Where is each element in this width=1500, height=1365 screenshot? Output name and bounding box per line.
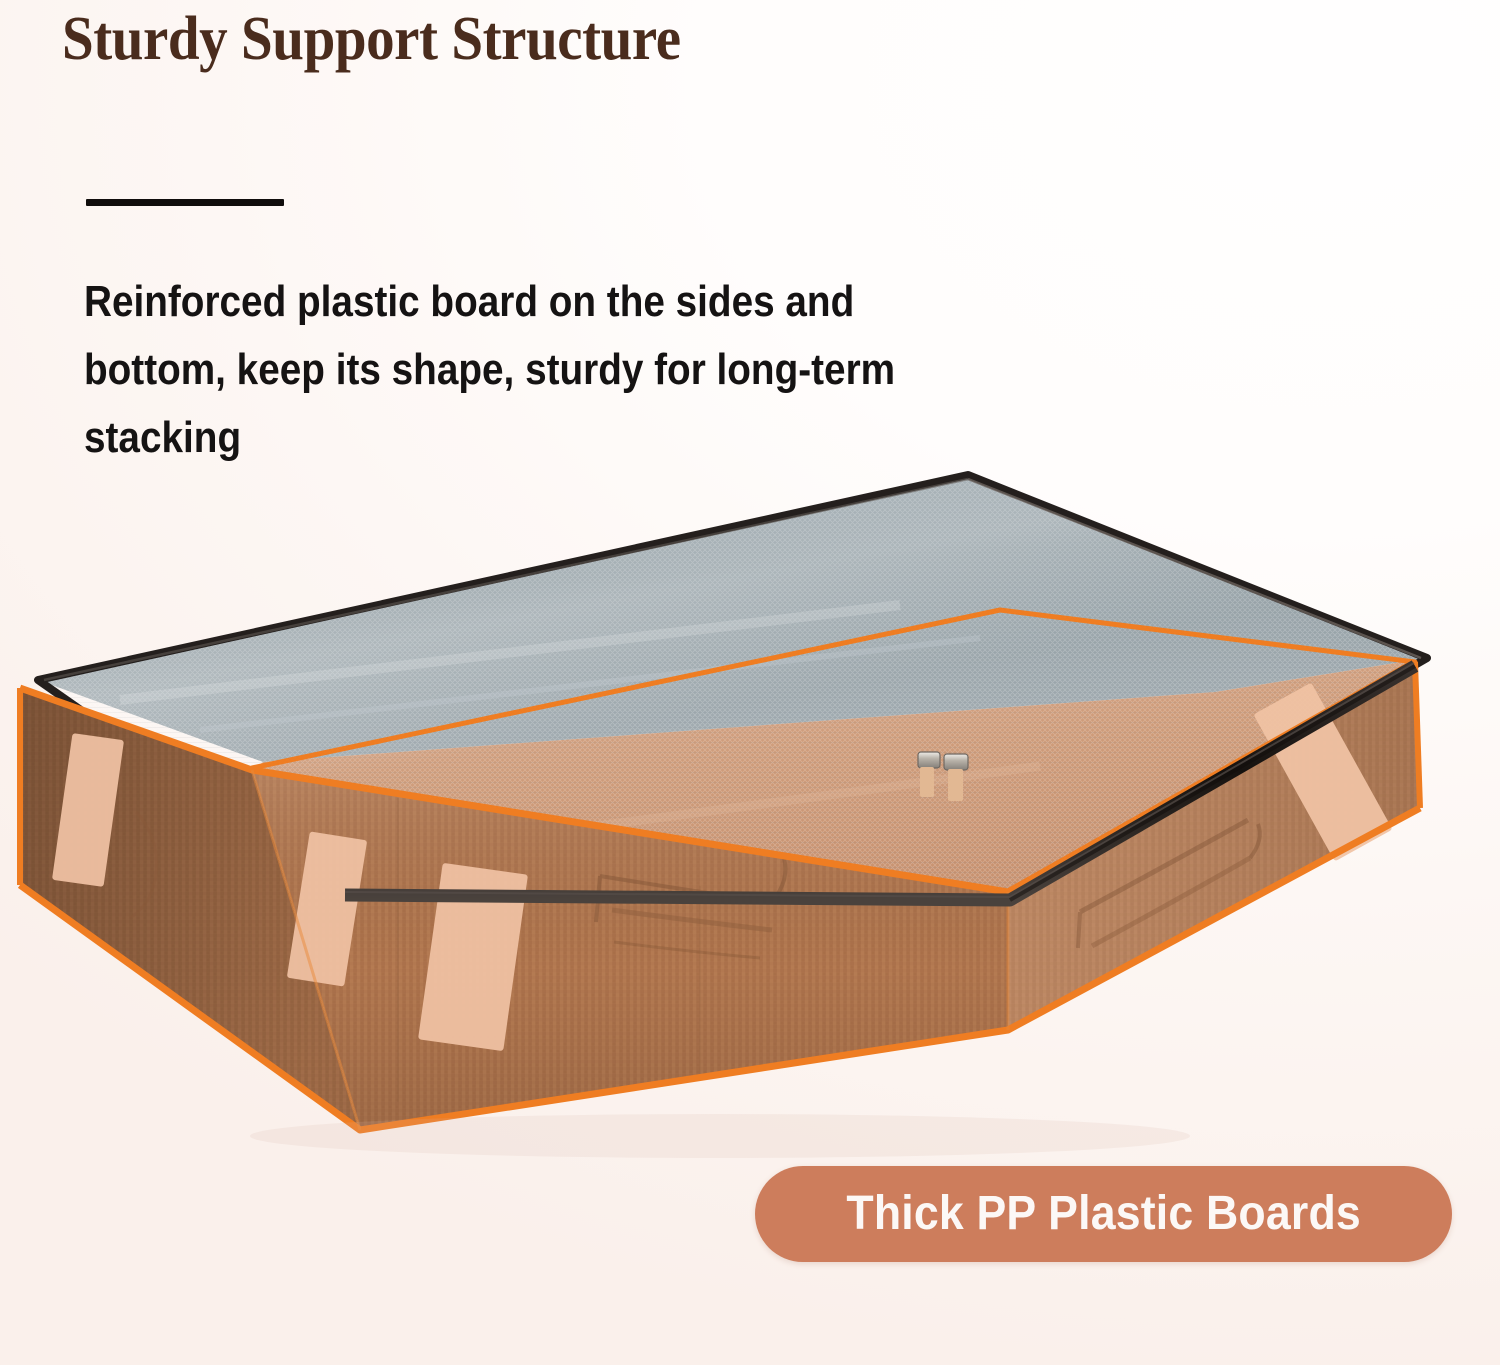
handle-left: [130, 812, 157, 918]
zipper-track: [345, 663, 1415, 900]
transparent-lid-panel: [38, 475, 1427, 900]
ground-shadow: [250, 1114, 1190, 1158]
left-panel: [20, 688, 360, 1130]
label-window-front-right: [418, 863, 528, 1051]
product-image: [0, 430, 1500, 1190]
zipper-pull-left: [918, 752, 940, 797]
title-divider-rule: [86, 199, 284, 206]
highlight-badge-label: Thick PP Plastic Boards: [846, 1188, 1361, 1240]
piping-bottom: [20, 808, 1420, 1130]
lid-tan-area: [252, 658, 1427, 900]
product-feature-card: Sturdy Support Structure Reinforced plas…: [0, 0, 1500, 1365]
lid-gray-area: [38, 475, 1427, 762]
label-window-left: [52, 733, 124, 887]
label-window-front-left: [287, 831, 367, 986]
label-window-right: [1253, 683, 1392, 862]
lid-black-binding: [38, 475, 1427, 900]
handle-right: [1078, 820, 1260, 948]
piping-top-rim: [20, 662, 1415, 892]
right-panel: [1008, 662, 1420, 1030]
highlight-badge: Thick PP Plastic Boards: [755, 1166, 1452, 1262]
handle-front: [596, 858, 786, 958]
front-panel: [252, 770, 1008, 1130]
page-title: Sturdy Support Structure: [62, 2, 681, 76]
lid-orange-outline: [252, 610, 1415, 892]
zipper-pull-right: [944, 754, 968, 801]
